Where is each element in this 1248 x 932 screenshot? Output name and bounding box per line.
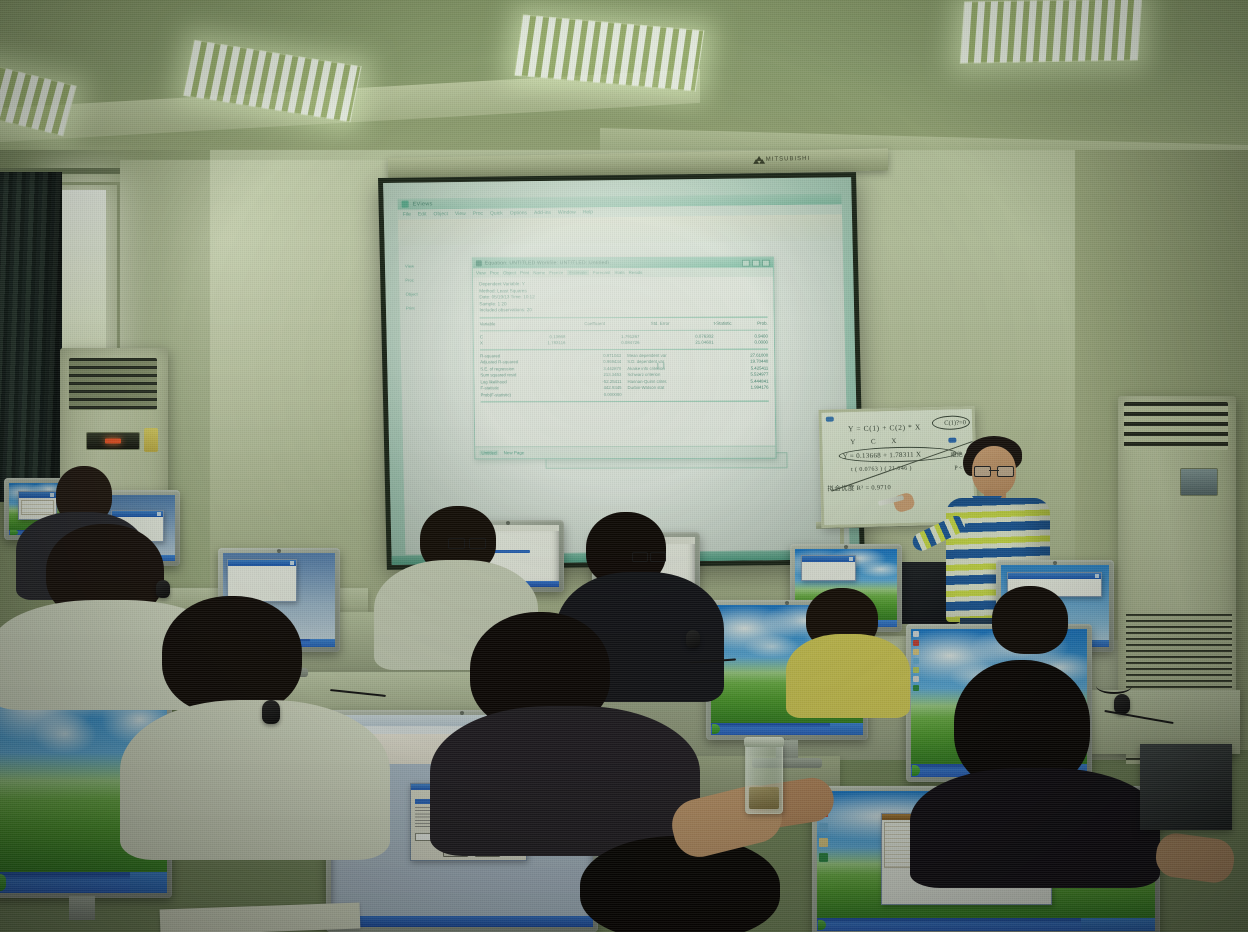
student-shoulders-8 <box>910 768 1160 888</box>
stat-value: 0.000000 <box>604 391 622 397</box>
stats-column-left: R-squared0.971043 Adjusted R-squared0.96… <box>480 353 622 398</box>
desktop-icons[interactable] <box>913 631 919 691</box>
student-head-10 <box>580 836 780 932</box>
ac-led-indicator <box>105 439 121 444</box>
whiteboard-line-5: 拟合优度 R² = 0.9710 <box>827 481 891 493</box>
xp-taskbar[interactable] <box>711 723 863 735</box>
classroom-scene: MITSUBISHI EViews File Edit Object View … <box>0 0 1248 932</box>
system-tray[interactable] <box>830 723 863 735</box>
menu-edit[interactable]: Edit <box>418 211 427 217</box>
equation-icon <box>476 260 482 266</box>
table-row: X 1.783116 0.084726 21.04601 0.0000 <box>480 339 768 346</box>
menu-help[interactable]: Help <box>583 209 593 215</box>
system-tray[interactable] <box>310 639 335 647</box>
output-rule-top <box>480 316 768 318</box>
output-rule-header <box>480 329 768 331</box>
tea-tumbler <box>745 742 783 814</box>
start-button[interactable] <box>10 530 18 534</box>
col-variable: Variable <box>480 321 534 327</box>
xp-taskbar[interactable] <box>817 918 1155 931</box>
close-icon <box>1095 574 1099 578</box>
student-shoulders-6 <box>786 634 910 718</box>
output-rule-bottom <box>481 401 769 403</box>
menu-object[interactable]: Object <box>433 211 448 217</box>
maximize-icon[interactable] <box>752 259 760 266</box>
shortcut-icon[interactable] <box>913 676 919 682</box>
excel-icon[interactable] <box>819 853 828 862</box>
app-icon[interactable] <box>913 667 919 673</box>
computer-tower <box>1140 744 1232 830</box>
tool-print[interactable]: Print <box>520 270 529 275</box>
eviews-workspace: View Proc Object Print Equation: UNTITLE… <box>398 214 850 554</box>
window-controls[interactable] <box>742 259 770 266</box>
projector-brand-label: MITSUBISHI <box>766 155 810 162</box>
window-curtain <box>0 172 62 502</box>
student-shoulders-9 <box>430 706 700 856</box>
whiteboard-magnet <box>826 417 834 422</box>
student-shoulders-3 <box>120 700 390 860</box>
app-window[interactable] <box>801 555 856 580</box>
col-prob: Prob. <box>732 320 768 326</box>
sidebar-proc[interactable]: Proc <box>405 277 427 282</box>
tab-new-page[interactable]: New Page <box>504 450 525 455</box>
tool-object[interactable]: Object <box>503 270 516 275</box>
glasses-icon <box>448 538 486 547</box>
close-icon <box>290 561 294 565</box>
mouse-1[interactable] <box>262 700 280 724</box>
equation-output: Dependent Variable: Y Method: Least Squa… <box>473 277 775 447</box>
menu-window[interactable]: Window <box>558 210 576 216</box>
menu-view[interactable]: View <box>455 211 466 217</box>
menu-addins[interactable]: Add-ins <box>534 210 551 216</box>
ac-display-panel[interactable] <box>86 432 140 450</box>
stat-value: 1.994176 <box>751 385 769 391</box>
row-variable: X <box>480 340 493 346</box>
ceiling-light-4 <box>960 0 1142 64</box>
row-t-stat: 21.04601 <box>640 340 714 346</box>
system-tray[interactable] <box>1081 918 1155 931</box>
whiteboard-line-2: Y C X <box>850 437 903 446</box>
xp-taskbar[interactable] <box>331 916 593 927</box>
eviews-object-sidebar: View Proc Object Print <box>405 263 428 310</box>
row-prob: 0.0000 <box>714 339 768 345</box>
col-std-error: Std. Error <box>605 320 670 326</box>
mitsubishi-icon <box>755 156 763 163</box>
col-coefficient: Coefficient <box>534 321 605 327</box>
system-tray[interactable] <box>130 872 167 893</box>
equation-results-window[interactable]: Equation: UNTITLED Workfile: UNTITLED::U… <box>472 257 777 460</box>
tool-view[interactable]: View <box>476 270 486 275</box>
start-button[interactable] <box>912 765 920 776</box>
app-icon[interactable] <box>913 640 919 646</box>
close-icon <box>849 557 853 561</box>
menu-options[interactable]: Options <box>510 210 527 216</box>
whiteboard-line-1: Y = C(1) + C(2) * X <box>848 422 921 433</box>
mouse-cable <box>1096 678 1132 694</box>
tool-resids[interactable]: Resids <box>629 270 643 275</box>
student-head-7 <box>992 586 1068 654</box>
tool-stats[interactable]: Stats <box>614 270 624 275</box>
monitor-stand-ws-11 <box>69 896 95 920</box>
output-rule-mid <box>480 349 768 351</box>
start-button[interactable] <box>712 724 720 734</box>
glasses-icon <box>632 552 666 560</box>
stat-item: Durbin-Watson stat1.994176 <box>628 385 769 392</box>
tool-estimate[interactable]: Estimate <box>567 270 589 275</box>
ie-icon[interactable] <box>819 823 828 832</box>
stat-label: Durbin-Watson stat <box>628 385 665 392</box>
projector-brand: MITSUBISHI <box>755 155 810 163</box>
ac-vent-grille <box>69 358 157 410</box>
app-content-rows <box>21 500 54 515</box>
tumbler-lid <box>744 737 784 747</box>
ie-icon[interactable] <box>913 658 919 664</box>
row-coefficient: 1.783116 <box>493 340 566 346</box>
student-head-3 <box>162 596 302 714</box>
folder-icon[interactable] <box>819 838 828 847</box>
text-cursor-icon <box>657 363 664 370</box>
tool-name[interactable]: Name <box>533 270 545 275</box>
equation-window-title: Equation: UNTITLED Workfile: UNTITLED::U… <box>485 260 739 267</box>
eviews-app-title: EViews <box>413 201 433 207</box>
folder-icon[interactable] <box>913 649 919 655</box>
ac-energy-badge <box>144 428 158 452</box>
eviews-app-icon <box>402 201 409 208</box>
coefficient-table: Variable Coefficient Std. Error t-Statis… <box>480 320 768 327</box>
close-icon <box>157 512 161 516</box>
glasses-icon <box>974 466 1014 475</box>
whiteboard-note-1: C(1)?=0 <box>944 419 966 427</box>
app-body <box>802 562 855 579</box>
sidebar-print[interactable]: Print <box>406 305 428 310</box>
tab-untitled[interactable]: Untitled <box>479 450 498 455</box>
mouse-2[interactable] <box>156 580 170 598</box>
summary-statistics: R-squared0.971043 Adjusted R-squared0.96… <box>480 353 769 399</box>
sidebar-view[interactable]: View <box>405 263 427 268</box>
output-observations: Included observations: 20 <box>479 307 767 314</box>
stat-label: Prob(F-statistic) <box>481 392 511 398</box>
excel-icon[interactable] <box>913 685 919 691</box>
col-t-statistic: t-Statistic <box>670 320 732 326</box>
eviews-application: EViews File Edit Object View Proc Quick … <box>397 193 849 554</box>
menu-proc[interactable]: Proc <box>473 211 483 217</box>
workfile-status-bar: Untitled New Page <box>475 446 775 459</box>
tool-proc[interactable]: Proc <box>490 270 499 275</box>
close-icon <box>50 493 54 497</box>
my-computer-icon[interactable] <box>913 631 919 637</box>
tool-freeze[interactable]: Freeze <box>549 270 563 275</box>
stat-item: Prob(F-statistic)0.000000 <box>481 391 622 398</box>
row-std-error: 0.084726 <box>565 340 639 346</box>
mouse-3[interactable] <box>686 630 700 648</box>
sidebar-object[interactable]: Object <box>406 291 428 296</box>
minimize-icon[interactable] <box>742 259 750 266</box>
xp-taskbar[interactable] <box>0 872 167 893</box>
tool-forecast[interactable]: Forecast <box>593 270 611 275</box>
eviews-toolbar-strip <box>398 214 843 245</box>
start-button[interactable] <box>0 874 6 891</box>
ac-vent-grille <box>1124 402 1228 450</box>
menu-quick[interactable]: Quick <box>490 210 503 216</box>
close-icon[interactable] <box>762 259 770 266</box>
tea-leaves <box>749 787 779 809</box>
student-hand-right <box>1153 831 1236 885</box>
worksheet-paper <box>160 903 361 932</box>
start-button[interactable] <box>818 920 826 930</box>
menu-file[interactable]: File <box>403 212 411 218</box>
ac-display-panel[interactable] <box>1180 468 1218 496</box>
table-header-row: Variable Coefficient Std. Error t-Statis… <box>480 320 768 327</box>
coefficient-rows: C 0.13668 1.791267 0.076302 0.9400 X 1.7… <box>480 333 768 346</box>
stats-column-right: Mean dependent var27.61000 S.D. dependen… <box>627 353 769 398</box>
